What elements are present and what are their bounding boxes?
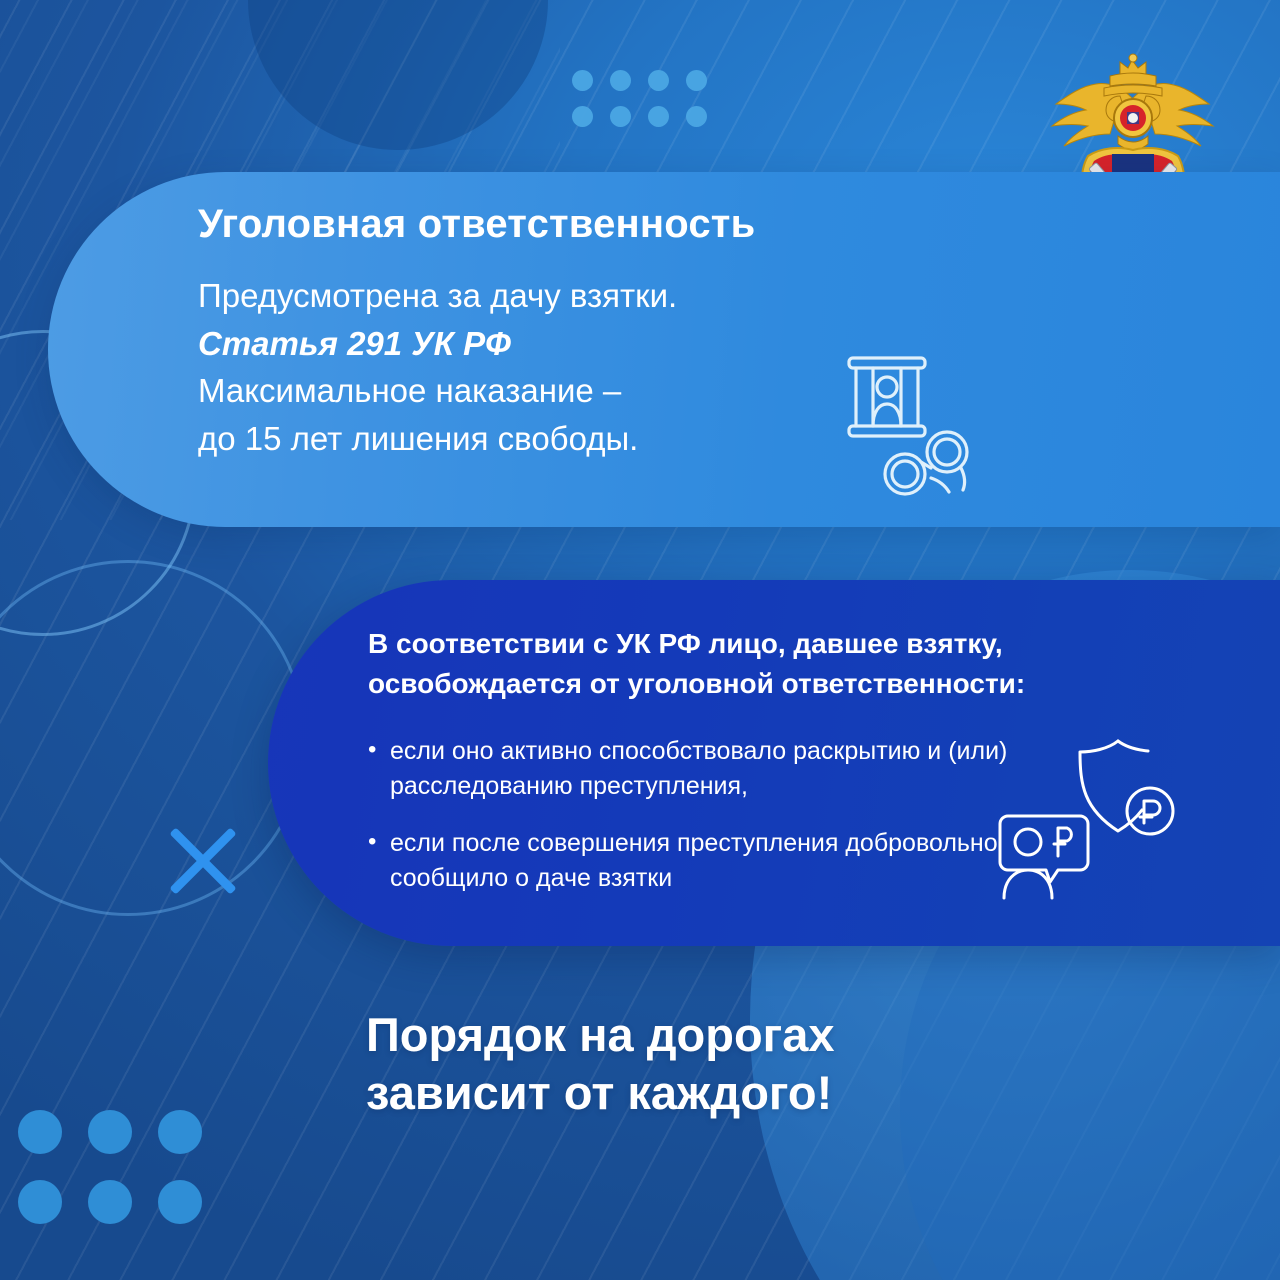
list-item: если после совершения преступления добро… (368, 826, 1090, 896)
dot (18, 1110, 62, 1154)
criminal-liability-card: Уголовная ответственность Предусмотрена … (48, 172, 1280, 527)
exemption-lead-line-1: В соответствии с УК РФ лицо, давшее взят… (368, 628, 1003, 659)
liability-line-1: Предусмотрена за дачу взятки. (198, 277, 677, 314)
dot (158, 1180, 202, 1224)
exemption-lead: В соответствии с УК РФ лицо, давшее взят… (368, 624, 1260, 704)
dot (88, 1110, 132, 1154)
dot (158, 1110, 202, 1154)
slogan-line-2: зависит от каждого! (366, 1064, 1066, 1122)
x-mark-icon (160, 818, 246, 904)
campaign-slogan: Порядок на дорогах зависит от каждого! (366, 1006, 1066, 1123)
dot-grid-top (572, 70, 724, 142)
dot (648, 70, 669, 91)
dot (572, 106, 593, 127)
dot (572, 70, 593, 91)
criminal-liability-content: Уголовная ответственность Предусмотрена … (198, 202, 1280, 462)
dot (686, 70, 707, 91)
criminal-liability-text: Предусмотрена за дачу взятки. Статья 291… (198, 272, 1280, 462)
liability-line-4: до 15 лет лишения свободы. (198, 420, 638, 457)
dot (18, 1180, 62, 1224)
liability-article: Статья 291 УК РФ (198, 325, 511, 362)
jail-handcuffs-icon (843, 352, 993, 507)
exemption-card: В соответствии с УК РФ лицо, давшее взят… (268, 580, 1280, 946)
list-item: если оно активно способствовало раскрыти… (368, 734, 1090, 804)
person-speech-ruble-icon (996, 812, 1092, 904)
dot (686, 106, 707, 127)
liability-line-3: Максимальное наказание – (198, 372, 621, 409)
dot (648, 106, 669, 127)
dot (88, 1180, 132, 1224)
dot (610, 70, 631, 91)
dot (610, 106, 631, 127)
poster-canvas: СЛУЖИМ ЗАКОНУ РОССИИ СЛУЖИМ Уголовная от… (0, 0, 1280, 1280)
dot-grid-bottom (18, 1110, 228, 1250)
slogan-line-1: Порядок на дорогах (366, 1006, 1066, 1064)
page-title: Уголовная ответственность (198, 202, 1280, 246)
exemption-lead-line-2: освобождается от уголовной ответственнос… (368, 668, 1025, 699)
